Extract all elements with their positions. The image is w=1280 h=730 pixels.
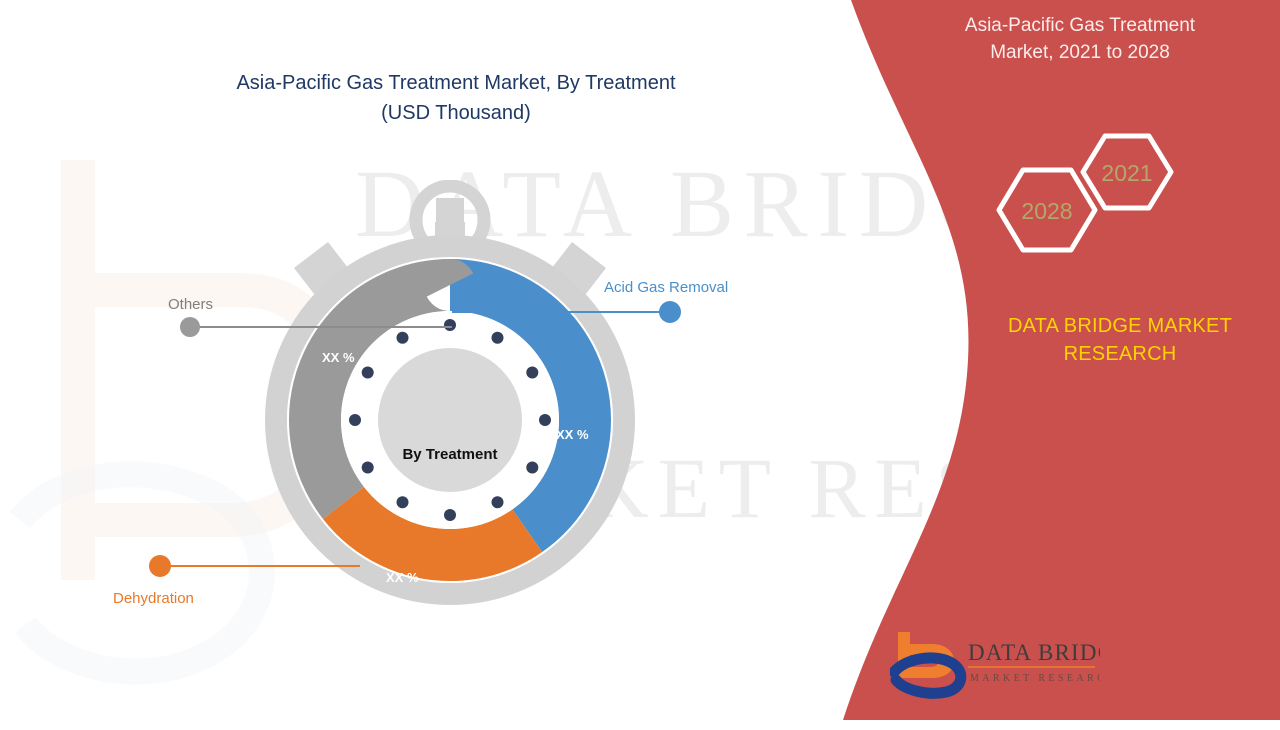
logo-tagline: MARKET RESEARCH [970, 673, 1100, 684]
infographic-canvas: DATA BRIDGE MARKET RESEARCH Asia-Pacific… [0, 0, 1280, 720]
segment-value-dehydration: XX % [386, 570, 419, 585]
chart-title: Asia-Pacific Gas Treatment Market, By Tr… [126, 68, 786, 128]
panel-title-line1: Asia-Pacific Gas Treatment [930, 12, 1230, 39]
brand-name: DATA BRIDGE MARKET RESEARCH [960, 312, 1280, 368]
panel-title-line2: Market, 2021 to 2028 [930, 39, 1230, 66]
callout-label-acid-gas-removal[interactable]: Acid Gas Removal [604, 279, 728, 296]
chart-title-line2: (USD Thousand) [126, 98, 786, 128]
callout-dot-acid-gas-removal[interactable] [659, 301, 681, 323]
chart-title-line1: Asia-Pacific Gas Treatment Market, By Tr… [126, 68, 786, 98]
donut-chart: By Treatment [250, 180, 650, 640]
data-bridge-logo[interactable]: DATA BRIDGE MARKET RESEARCH [890, 628, 1100, 700]
hexagon-label-2021: 2021 [1101, 160, 1152, 186]
logo-wordmark: DATA BRIDGE [968, 640, 1100, 665]
donut-center-hub [378, 348, 522, 492]
callout-label-dehydration[interactable]: Dehydration [113, 590, 194, 607]
callout-label-others[interactable]: Others [168, 296, 213, 313]
panel-title: Asia-Pacific Gas Treatment Market, 2021 … [930, 12, 1230, 66]
brand-name-line2: RESEARCH [960, 340, 1280, 368]
segment-value-acid-gas-removal: XX % [556, 427, 589, 442]
hexagon-label-2028: 2028 [1021, 198, 1072, 224]
year-hexagons: 2028 2021 [985, 130, 1185, 280]
segment-value-others: XX % [322, 350, 355, 365]
brand-name-line1: DATA BRIDGE MARKET [960, 312, 1280, 340]
